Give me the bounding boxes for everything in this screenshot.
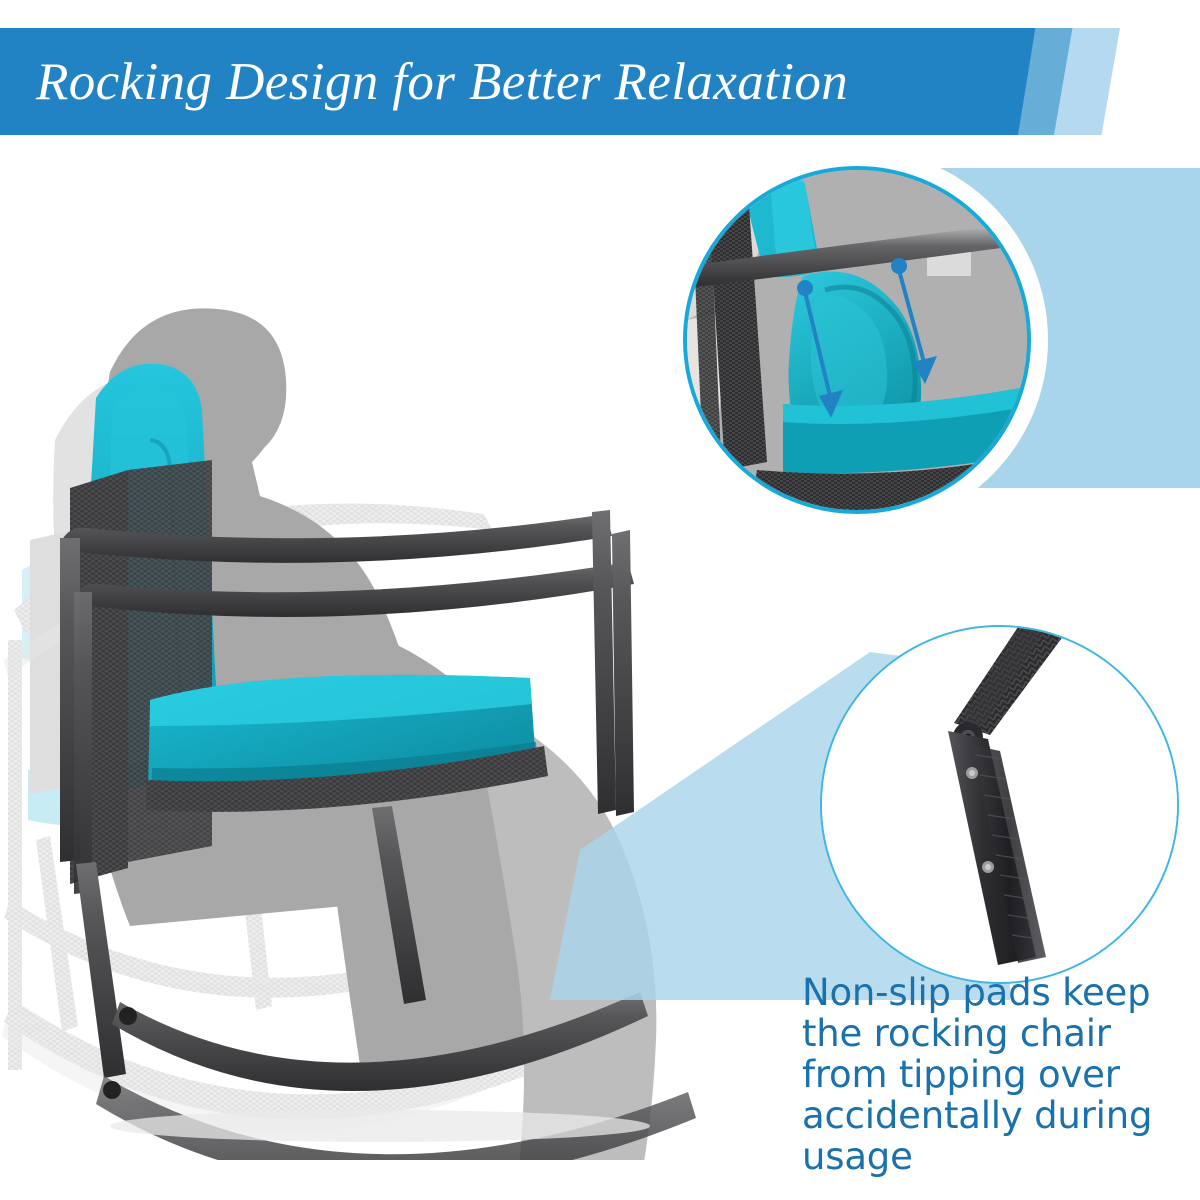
page-title: Rocking Design for Better Relaxation — [36, 36, 996, 128]
caption-line-3: from tipping over — [802, 1054, 1194, 1095]
infographic-canvas: Rocking Design for Better Relaxation — [0, 0, 1200, 1200]
caption-line-2: the rocking chair — [802, 1013, 1194, 1054]
header-banner: Rocking Design for Better Relaxation — [0, 28, 1135, 135]
caption-line-1: Non-slip pads keep — [802, 972, 1194, 1013]
floor-shadow — [110, 1110, 650, 1142]
callout-non-slip-pad[interactable] — [820, 625, 1179, 984]
feature-caption: Non-slip pads keep the rocking chair fro… — [802, 972, 1194, 1177]
callout-cushion-gap[interactable] — [683, 166, 1031, 514]
caption-line-4: accidentally during — [802, 1095, 1194, 1136]
caption-line-5: usage — [802, 1136, 1194, 1177]
